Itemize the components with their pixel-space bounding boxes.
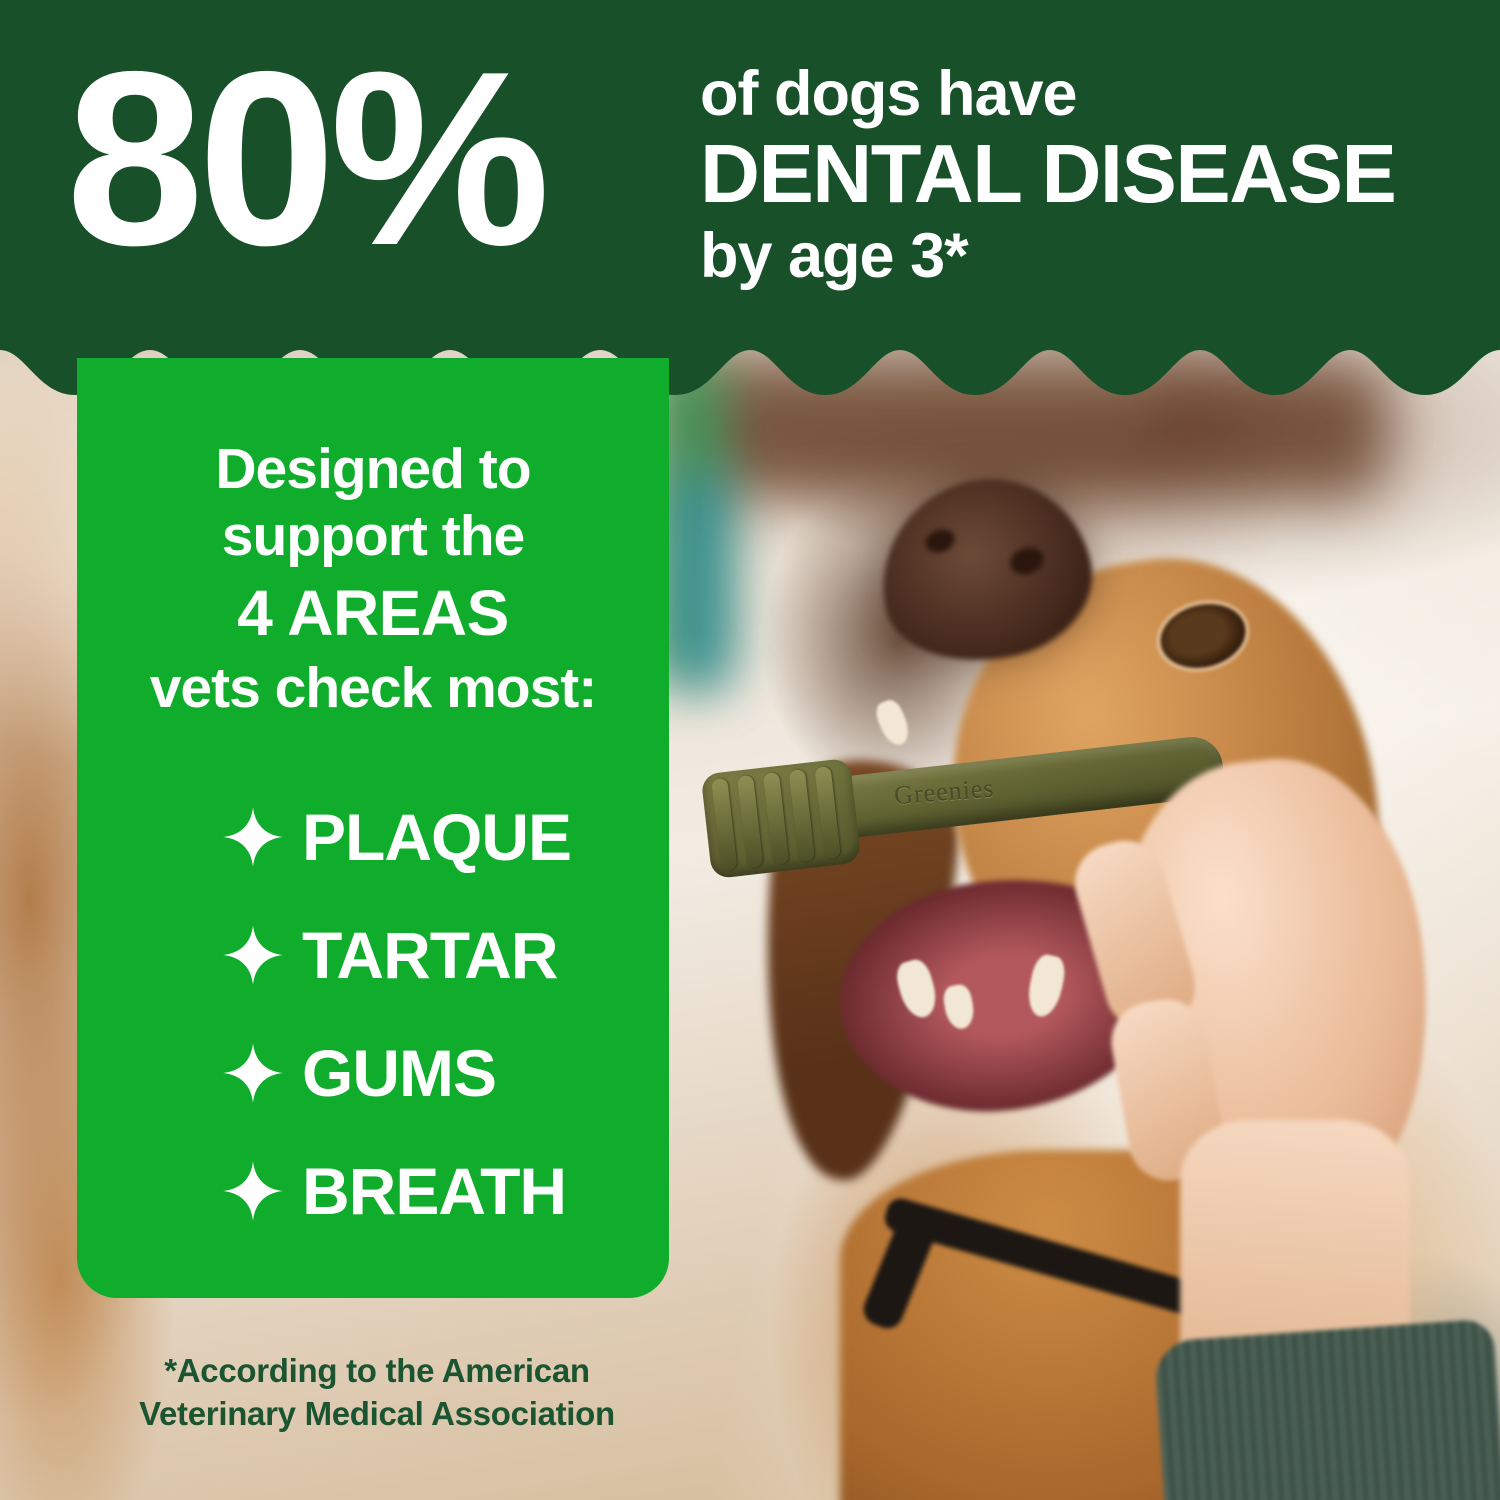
panel-heading-line-3: 4 AREAS: [77, 575, 669, 652]
benefits-list: PLAQUE TARTAR GUMS BREATH: [77, 778, 669, 1250]
stat-percent: 80%: [66, 34, 544, 282]
sweater-sleeve: [1153, 1318, 1500, 1500]
chew-bristle: [711, 778, 737, 871]
chew-bristle: [789, 769, 815, 862]
sparkle-icon: [222, 924, 284, 986]
panel-heading: Designed to support the 4 AREAS vets che…: [77, 436, 669, 723]
sparkle-icon: [222, 1042, 284, 1104]
benefit-label: BREATH: [302, 1158, 566, 1224]
benefits-panel: Designed to support the 4 AREAS vets che…: [77, 358, 669, 1298]
header-line-3: by age 3*: [700, 221, 1460, 292]
list-item: PLAQUE: [77, 778, 669, 896]
chew-brush-head: [701, 758, 862, 879]
benefit-label: GUMS: [302, 1040, 496, 1106]
list-item: GUMS: [77, 1014, 669, 1132]
list-item: TARTAR: [77, 896, 669, 1014]
benefit-label: PLAQUE: [302, 804, 571, 870]
list-item: BREATH: [77, 1132, 669, 1250]
product-infographic: Greenies 80% of dogs have DENTAL DISEASE…: [0, 0, 1500, 1500]
header-line-2: DENTAL DISEASE: [700, 128, 1460, 221]
header-band: 80% of dogs have DENTAL DISEASE by age 3…: [0, 0, 1500, 400]
header-text-group: 80% of dogs have DENTAL DISEASE by age 3…: [0, 0, 1500, 340]
footnote-line-1: *According to the American: [77, 1350, 677, 1393]
footnote: *According to the American Veterinary Me…: [77, 1350, 677, 1436]
chew-bristle: [815, 766, 841, 859]
panel-heading-line-2: support the: [77, 503, 669, 570]
footnote-line-2: Veterinary Medical Association: [77, 1393, 677, 1436]
chew-bristle: [763, 772, 789, 865]
panel-heading-line-1: Designed to: [77, 436, 669, 503]
chew-bristle: [737, 775, 763, 868]
header-line-1: of dogs have: [700, 60, 1460, 128]
sparkle-icon: [222, 1160, 284, 1222]
header-copy: of dogs have DENTAL DISEASE by age 3*: [700, 60, 1460, 292]
benefit-label: TARTAR: [302, 922, 558, 988]
panel-heading-line-4: vets check most:: [77, 655, 669, 722]
sparkle-icon: [222, 806, 284, 868]
